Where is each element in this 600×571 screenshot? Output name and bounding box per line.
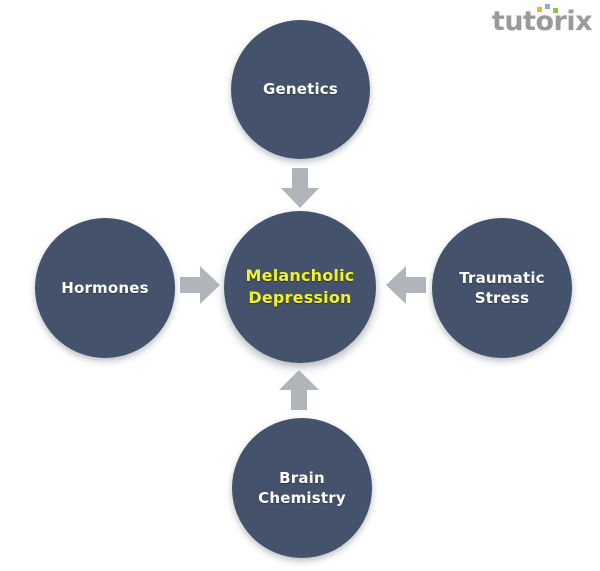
node-traumatic-stress: Traumatic Stress	[432, 218, 572, 358]
node-traumatic-stress-label: Traumatic Stress	[459, 268, 545, 309]
node-brain-chemistry: Brain Chemistry	[232, 418, 372, 558]
arrow-up-icon	[279, 370, 319, 410]
node-melancholic-depression: Melancholic Depression	[224, 211, 376, 363]
node-genetics-label: Genetics	[263, 79, 338, 99]
node-melancholic-depression-label: Melancholic Depression	[246, 265, 355, 308]
node-brain-chemistry-label: Brain Chemistry	[258, 468, 346, 509]
arrow-right-icon	[180, 266, 220, 304]
node-hormones-label: Hormones	[61, 278, 149, 298]
tutorix-logo: tutorix	[462, 4, 592, 40]
node-hormones: Hormones	[35, 218, 175, 358]
diagram-canvas: tutorix Genetics Hormones Melancholic De…	[0, 0, 600, 571]
arrow-left-icon	[386, 266, 426, 304]
logo-wordmark: tutorix	[492, 8, 592, 35]
node-genetics: Genetics	[231, 20, 370, 159]
arrow-down-icon	[281, 168, 319, 208]
